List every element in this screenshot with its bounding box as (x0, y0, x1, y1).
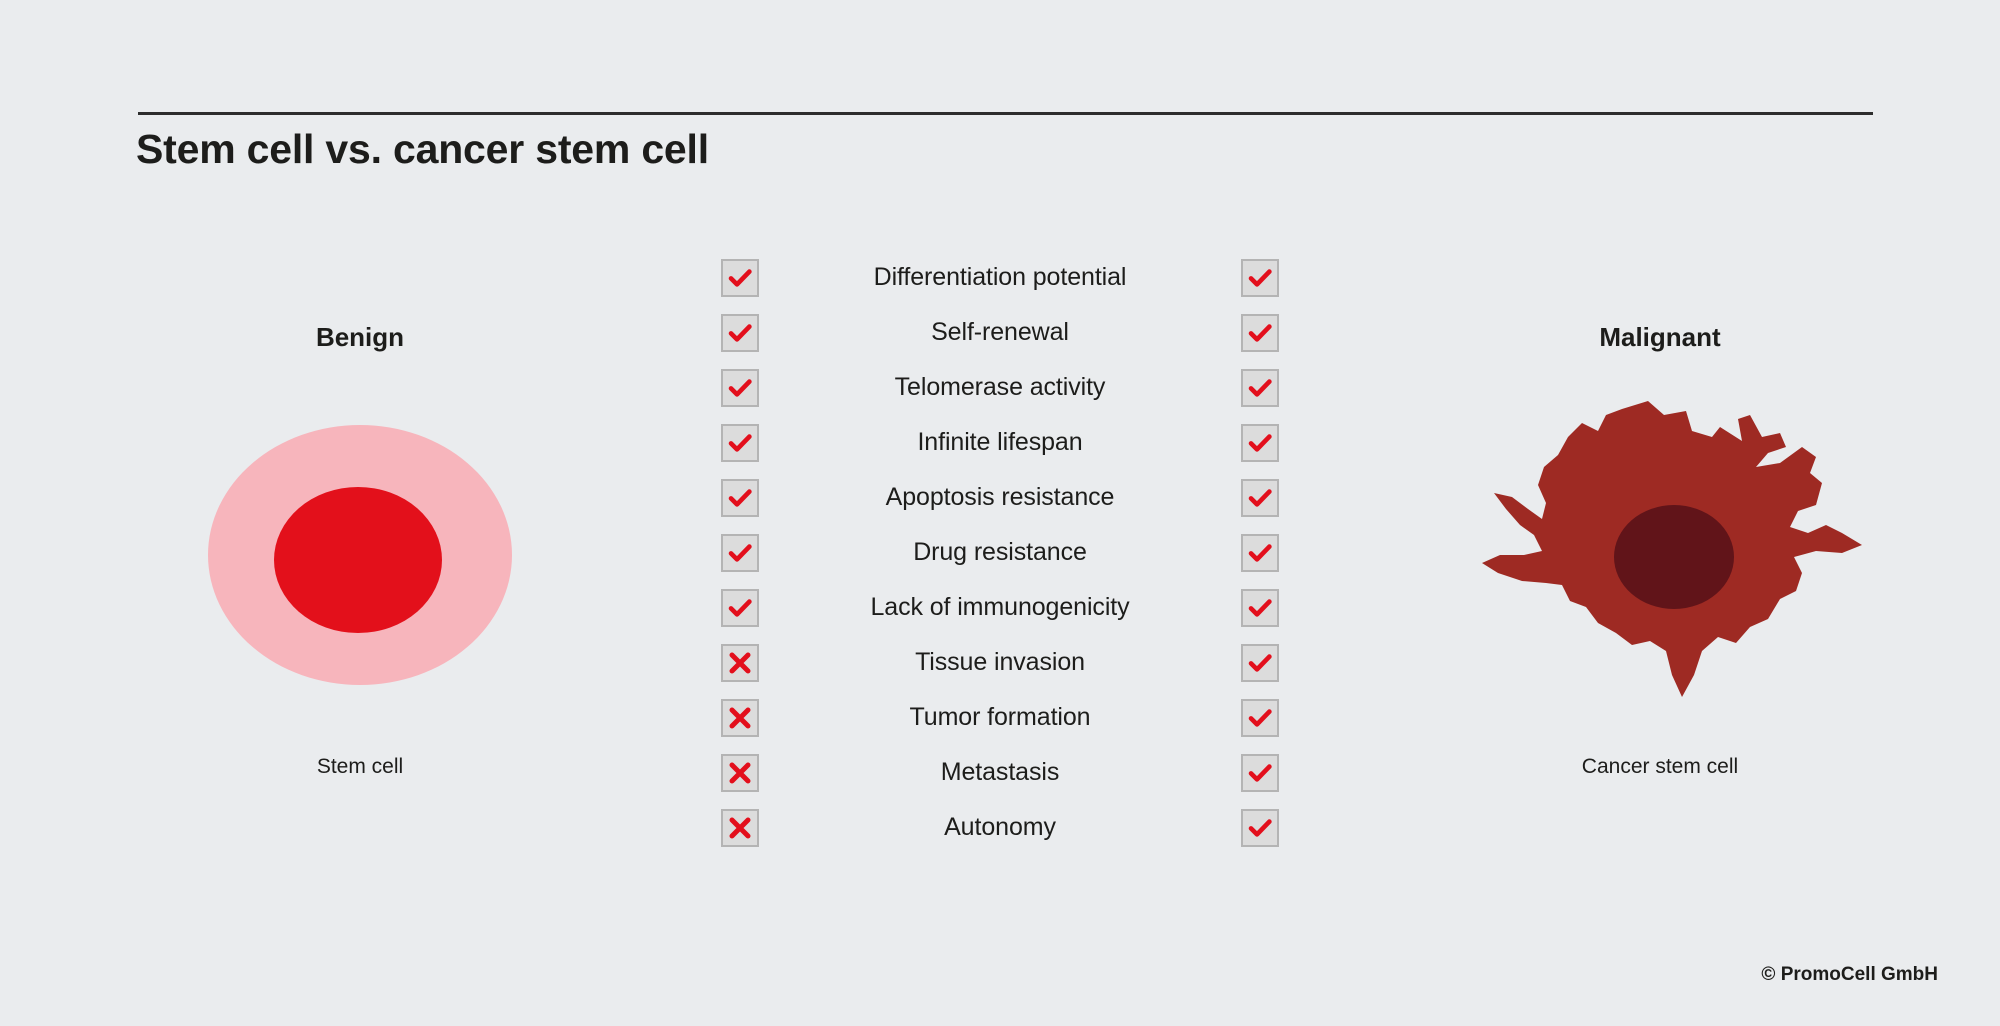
cancer-stem-cell-check-checkbox[interactable] (1241, 479, 1279, 517)
cancer-stem-cell-check-checkbox[interactable] (1241, 644, 1279, 682)
stem-cell-cross-checkbox[interactable] (721, 644, 759, 682)
comparison-row: Differentiation potential (700, 250, 1300, 305)
stem-cell-check-checkbox[interactable] (721, 424, 759, 462)
cancer-stem-cell-mark-cell (1220, 809, 1300, 847)
stem-cell-heading: Benign (150, 320, 570, 360)
cancer-stem-cell-check-checkbox[interactable] (1241, 534, 1279, 572)
comparison-row-label: Lack of immunogenicity (780, 593, 1220, 622)
comparison-row: Lack of immunogenicity (700, 580, 1300, 635)
comparison-row-label: Tissue invasion (780, 648, 1220, 677)
cancer-stem-cell-mark-cell (1220, 314, 1300, 352)
comparison-row: Autonomy (700, 800, 1300, 855)
stem-cell-check-checkbox[interactable] (721, 589, 759, 627)
cancer-stem-cell-check-checkbox[interactable] (1241, 809, 1279, 847)
stem-cell-mark-cell (700, 699, 780, 737)
comparison-row-label: Infinite lifespan (780, 428, 1220, 457)
stem-cell-cross-checkbox[interactable] (721, 754, 759, 792)
cancer-stem-cell-caption: Cancer stem cell (1450, 755, 1870, 779)
stem-cell-mark-cell (700, 534, 780, 572)
stem-cell-mark-cell (700, 754, 780, 792)
comparison-row-label: Metastasis (780, 758, 1220, 787)
comparison-row-label: Telomerase activity (780, 373, 1220, 402)
cancer-stem-cell-check-checkbox[interactable] (1241, 699, 1279, 737)
cancer-stem-cell-heading: Malignant (1450, 320, 1870, 360)
cancer-stem-cell-mark-cell (1220, 699, 1300, 737)
page-title: Stem cell vs. cancer stem cell (136, 126, 709, 173)
stem-cell-cross-checkbox[interactable] (721, 809, 759, 847)
stem-cell-cross-checkbox[interactable] (721, 699, 759, 737)
cancer-stem-cell-illustration (1450, 375, 1870, 735)
stem-cell-check-checkbox[interactable] (721, 369, 759, 407)
stem-cell-mark-cell (700, 259, 780, 297)
stem-cell-mark-cell (700, 809, 780, 847)
stem-cell-check-checkbox[interactable] (721, 534, 759, 572)
cancer-stem-cell-check-checkbox[interactable] (1241, 259, 1279, 297)
copyright-notice: © PromoCell GmbH (1761, 964, 1938, 986)
cancer-stem-cell-mark-cell (1220, 259, 1300, 297)
stem-cell-illustration (150, 375, 570, 735)
cancer-stem-cell-check-checkbox[interactable] (1241, 424, 1279, 462)
stem-cell-panel: Benign Stem cell (150, 320, 570, 360)
header-rule (138, 112, 1873, 115)
cancer-stem-cell-mark-cell (1220, 369, 1300, 407)
stem-cell-check-checkbox[interactable] (721, 259, 759, 297)
comparison-row-label: Autonomy (780, 813, 1220, 842)
comparison-row: Tumor formation (700, 690, 1300, 745)
comparison-row-label: Tumor formation (780, 703, 1220, 732)
comparison-row-label: Drug resistance (780, 538, 1220, 567)
comparison-row: Self-renewal (700, 305, 1300, 360)
cancer-stem-cell-mark-cell (1220, 644, 1300, 682)
stem-cell-mark-cell (700, 424, 780, 462)
stem-cell-mark-cell (700, 369, 780, 407)
cancer-stem-cell-panel: Malignant Cancer stem cell (1450, 320, 1870, 360)
comparison-row: Metastasis (700, 745, 1300, 800)
comparison-row: Drug resistance (700, 525, 1300, 580)
comparison-row-label: Differentiation potential (780, 263, 1220, 292)
comparison-row: Tissue invasion (700, 635, 1300, 690)
stem-cell-mark-cell (700, 589, 780, 627)
stem-cell-check-checkbox[interactable] (721, 314, 759, 352)
cancer-stem-cell-check-checkbox[interactable] (1241, 754, 1279, 792)
comparison-row-label: Self-renewal (780, 318, 1220, 347)
cancer-stem-cell-mark-cell (1220, 589, 1300, 627)
comparison-row: Apoptosis resistance (700, 470, 1300, 525)
cancer-stem-cell-check-checkbox[interactable] (1241, 589, 1279, 627)
comparison-table: Differentiation potentialSelf-renewalTel… (700, 250, 1300, 855)
comparison-row: Infinite lifespan (700, 415, 1300, 470)
cancer-stem-cell-mark-cell (1220, 534, 1300, 572)
cancer-stem-cell-mark-cell (1220, 479, 1300, 517)
cancer-stem-cell-mark-cell (1220, 754, 1300, 792)
cancer-stem-cell-check-checkbox[interactable] (1241, 314, 1279, 352)
stem-cell-mark-cell (700, 479, 780, 517)
cancer-stem-cell-check-checkbox[interactable] (1241, 369, 1279, 407)
comparison-row-label: Apoptosis resistance (780, 483, 1220, 512)
comparison-row: Telomerase activity (700, 360, 1300, 415)
stem-cell-mark-cell (700, 314, 780, 352)
stem-cell-caption: Stem cell (150, 755, 570, 779)
stem-cell-check-checkbox[interactable] (721, 479, 759, 517)
cancer-stem-cell-mark-cell (1220, 424, 1300, 462)
stem-cell-mark-cell (700, 644, 780, 682)
